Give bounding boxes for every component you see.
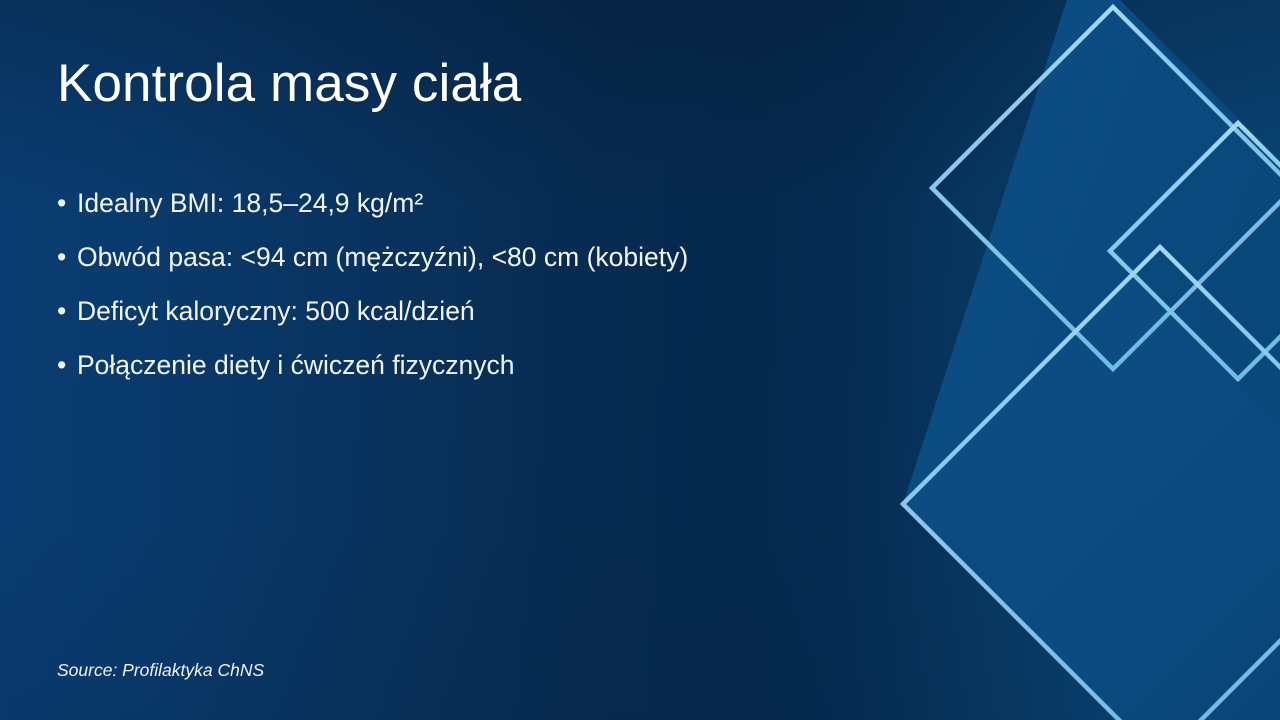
slide-canvas: Kontrola masy ciała • Idealny BMI: 18,5–… <box>0 0 1280 720</box>
bullet-marker-icon: • <box>57 294 77 328</box>
list-item-label: Idealny BMI: 18,5–24,9 kg/m² <box>77 186 423 220</box>
list-item-label: Deficyt kaloryczny: 500 kcal/dzień <box>77 294 475 328</box>
page-title: Kontrola masy ciała <box>57 52 521 116</box>
list-item: • Połączenie diety i ćwiczeń fizycznych <box>57 348 917 402</box>
source-note: Source: Profilaktyka ChNS <box>57 658 264 682</box>
list-item: • Deficyt kaloryczny: 500 kcal/dzień <box>57 294 917 348</box>
list-item-label: Połączenie diety i ćwiczeń fizycznych <box>77 348 514 382</box>
bullet-marker-icon: • <box>57 240 77 274</box>
bullet-marker-icon: • <box>57 348 77 382</box>
bullet-list: • Idealny BMI: 18,5–24,9 kg/m² • Obwód p… <box>57 186 917 402</box>
list-item: • Obwód pasa: <94 cm (mężczyźni), <80 cm… <box>57 240 917 294</box>
list-item-label: Obwód pasa: <94 cm (mężczyźni), <80 cm (… <box>77 240 688 274</box>
bullet-marker-icon: • <box>57 186 77 220</box>
list-item: • Idealny BMI: 18,5–24,9 kg/m² <box>57 186 917 240</box>
